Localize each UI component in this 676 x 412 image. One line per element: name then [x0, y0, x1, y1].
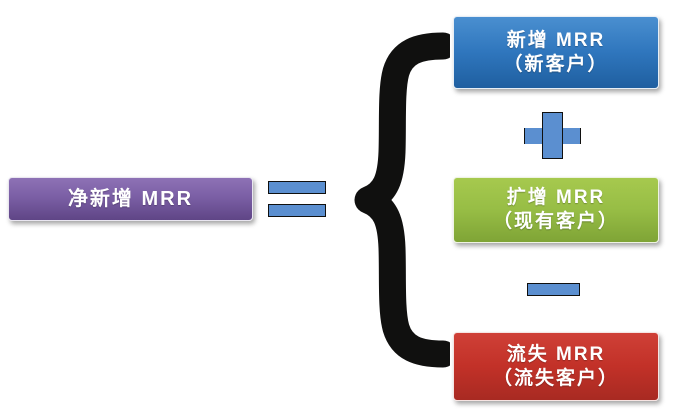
curly-brace-icon	[344, 32, 450, 374]
churn-mrr-box[interactable]: 流失 MRR （流失客户）	[453, 332, 659, 401]
plus-arm-vertical	[542, 112, 563, 159]
net-new-mrr-label: 净新增 MRR	[68, 187, 193, 212]
equals-bar-top	[268, 181, 326, 194]
new-mrr-box[interactable]: 新增 MRR （新客户）	[453, 16, 659, 89]
diagram-canvas: 净新增 MRR 新增 MRR （新客户） 扩增 MRR （现有客户） 流失 MR…	[0, 0, 676, 412]
equals-sign-icon	[268, 181, 326, 217]
new-mrr-label-line1: 新增 MRR	[507, 29, 606, 53]
curly-brace-path	[368, 46, 443, 354]
expansion-mrr-label-line1: 扩增 MRR	[507, 186, 606, 210]
expansion-mrr-box[interactable]: 扩增 MRR （现有客户）	[453, 177, 659, 243]
new-mrr-label-line2: （新客户）	[503, 53, 608, 77]
plus-sign-icon	[524, 112, 581, 159]
churn-mrr-label-line2: （流失客户）	[493, 367, 619, 391]
equals-bar-bottom	[268, 204, 326, 217]
churn-mrr-label-line1: 流失 MRR	[507, 343, 606, 367]
net-new-mrr-box[interactable]: 净新增 MRR	[8, 177, 253, 221]
expansion-mrr-label-line2: （现有客户）	[493, 210, 619, 234]
minus-sign-icon	[527, 283, 580, 296]
